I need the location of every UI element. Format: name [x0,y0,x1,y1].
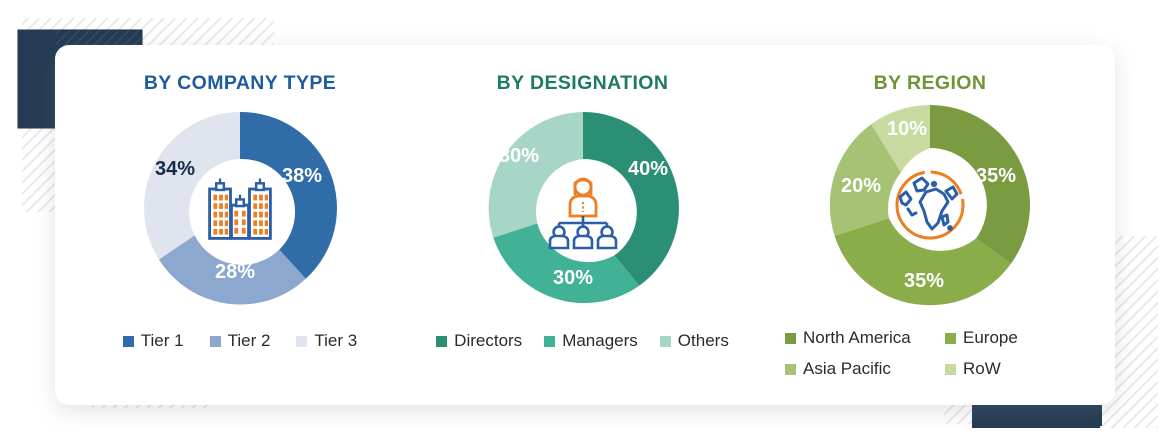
panel-by-region: BY REGION 35% 35% 20% 10% [755,45,1105,405]
legend-swatch-icon [296,336,307,347]
legend-swatch-icon [544,336,555,347]
navy-corner-top-left-fill [18,30,56,128]
legend-item-asia-pacific[interactable]: Asia Pacific [785,359,945,379]
legend-designation: Directors Managers Others [410,331,755,351]
legend-label: Managers [562,331,638,351]
org-hierarchy-icon [550,179,616,248]
legend-label: Asia Pacific [803,359,891,379]
legend-item-managers[interactable]: Managers [544,331,638,351]
legend-item-tier-2[interactable]: Tier 2 [210,331,271,351]
legend-swatch-icon [945,364,956,375]
donut-chart-region: 35% 35% 20% 10% [822,97,1038,313]
panel-title-region: BY REGION [755,72,1105,95]
donut-slice-others[interactable] [488,112,582,238]
donut-slice-managers[interactable] [493,223,639,303]
slice-label-directors: 40% [627,158,667,180]
legend-swatch-icon [660,336,671,347]
donut-chart-company-type: 38% 28% 34% [134,102,346,314]
legend-swatch-icon [123,336,134,347]
panel-by-designation: BY DESIGNATION 40% 30% 30% [410,45,755,405]
globe-icon [897,172,963,238]
office-buildings-icon [210,179,271,239]
legend-swatch-icon [436,336,447,347]
slice-label-tier-3: 34% [155,158,195,180]
slice-label-tier-1: 38% [282,165,322,187]
legend-region: North America Europe Asia Pacific RoW [755,328,1105,379]
legend-label: Tier 3 [314,331,357,351]
legend-label: Tier 2 [228,331,271,351]
legend-item-north-america[interactable]: North America [785,328,945,348]
legend-item-tier-3[interactable]: Tier 3 [296,331,357,351]
legend-item-others[interactable]: Others [660,331,729,351]
legend-company-type: Tier 1 Tier 2 Tier 3 [65,331,415,351]
slice-label-tier-2: 28% [215,261,255,283]
legend-swatch-icon [785,364,796,375]
slice-label-managers: 30% [552,267,592,289]
legend-label: Tier 1 [141,331,184,351]
slice-label-row: 10% [887,118,927,140]
donut-slice-directors[interactable] [583,112,679,286]
legend-item-europe[interactable]: Europe [945,328,1075,348]
legend-item-directors[interactable]: Directors [436,331,522,351]
legend-label: North America [803,328,911,348]
panel-title-company-type: BY COMPANY TYPE [65,72,415,95]
legend-label: RoW [963,359,1001,379]
slice-label-europe: 35% [904,270,944,292]
legend-item-tier-1[interactable]: Tier 1 [123,331,184,351]
legend-swatch-icon [210,336,221,347]
legend-swatch-icon [785,333,796,344]
panel-title-designation: BY DESIGNATION [410,72,755,95]
slice-label-others: 30% [498,145,538,167]
panel-by-company-type: BY COMPANY TYPE 38% 28% 34% [65,45,415,405]
infographic-card: BY COMPANY TYPE 38% 28% 34% [55,45,1115,405]
legend-label: Europe [963,328,1018,348]
slice-label-north-america: 35% [976,165,1016,187]
legend-label: Directors [454,331,522,351]
slice-label-asia-pacific: 20% [841,175,881,197]
legend-swatch-icon [945,333,956,344]
legend-item-row[interactable]: RoW [945,359,1075,379]
legend-label: Others [678,331,729,351]
donut-chart-designation: 40% 30% 30% [477,102,689,314]
